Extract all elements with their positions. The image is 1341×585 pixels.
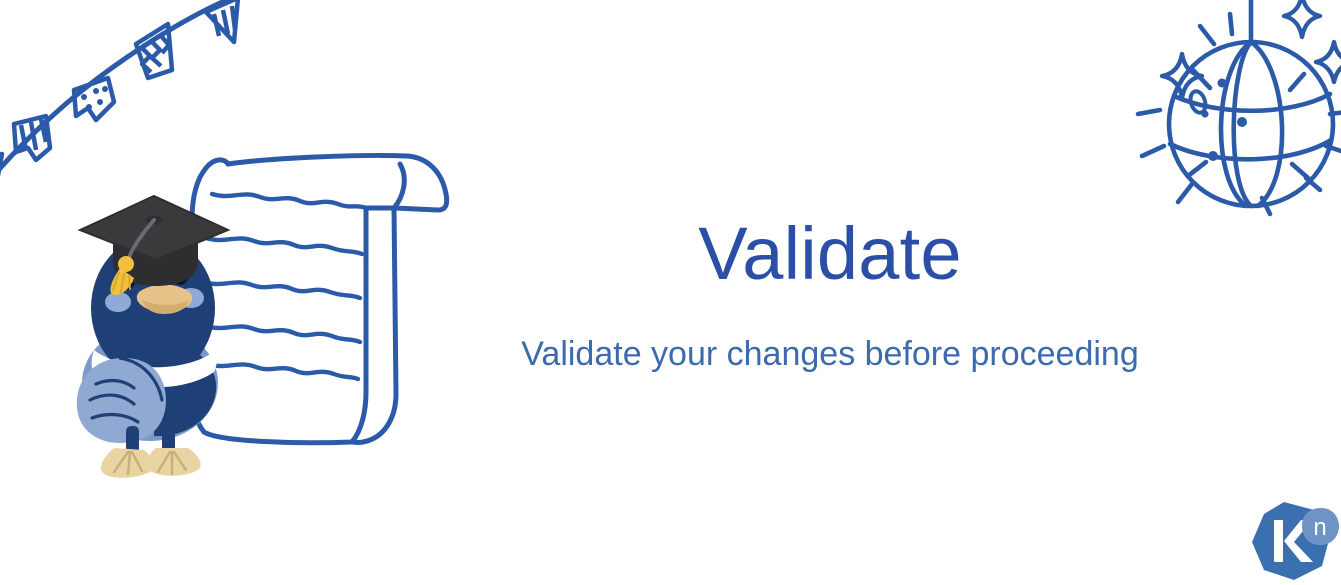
brand-logo[interactable]: n bbox=[1246, 498, 1341, 585]
logo-badge-shape bbox=[1302, 508, 1339, 545]
page-title: Validate bbox=[470, 206, 1190, 302]
slide-canvas: Validate Validate your changes before pr… bbox=[0, 0, 1341, 585]
logo-badge-letter: n bbox=[1313, 514, 1326, 541]
bunting-flags-icon bbox=[0, 0, 248, 190]
hero-text-block: Validate Validate your changes before pr… bbox=[470, 206, 1190, 376]
logo-letter-k bbox=[1274, 520, 1313, 562]
scroll-certificate-icon bbox=[180, 142, 460, 452]
disco-ball-icon bbox=[1118, 0, 1341, 227]
logo-heptagon-shape bbox=[1252, 502, 1330, 580]
page-subtitle: Validate your changes before proceeding bbox=[470, 332, 1190, 376]
graduate-bird-mascot-icon bbox=[58, 190, 243, 480]
